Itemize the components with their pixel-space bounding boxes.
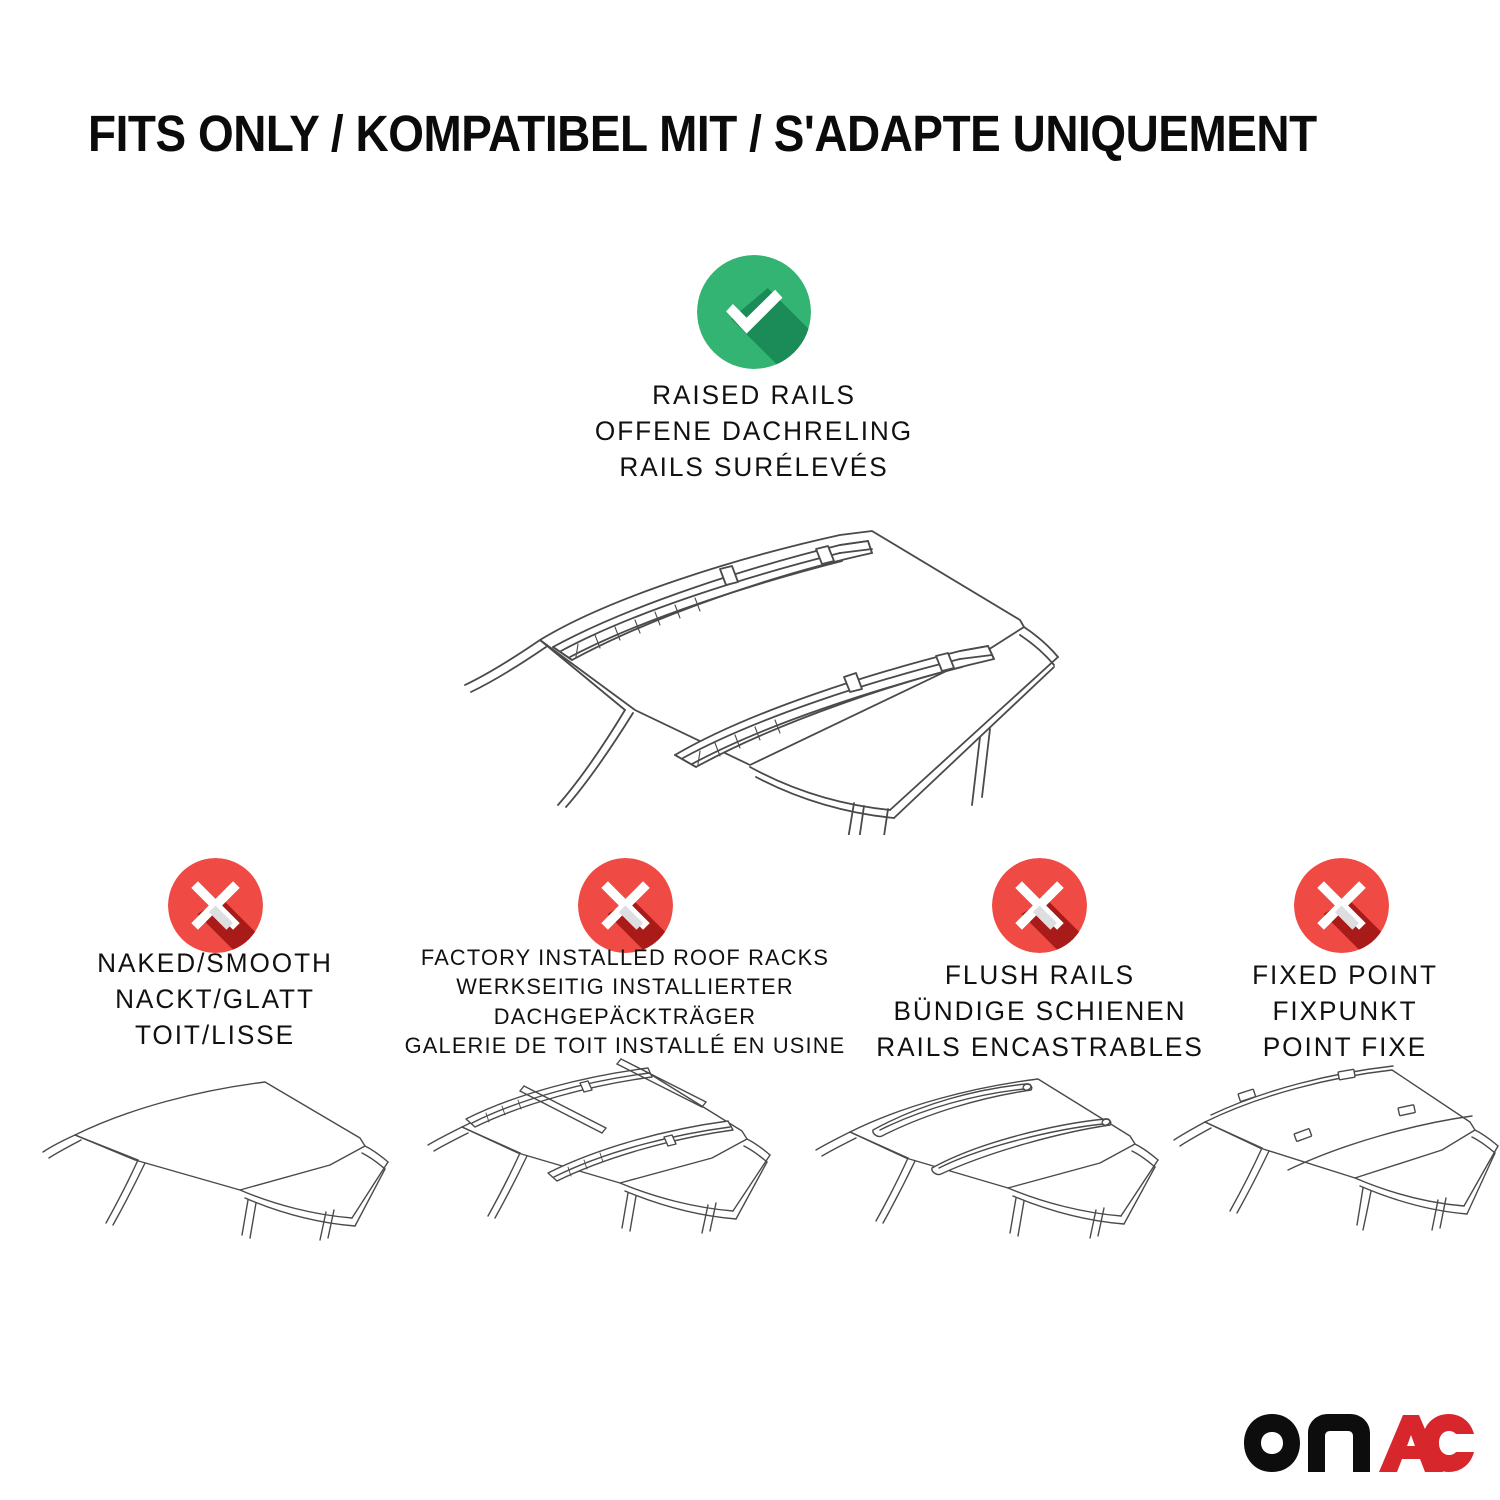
incompatible-label-de: BÜNDIGE SCHIENEN <box>861 994 1220 1030</box>
page-title: FITS ONLY / KOMPATIBEL MIT / S'ADAPTE UN… <box>88 108 1285 159</box>
car-roof-raised-rails-illustration <box>420 505 1080 835</box>
incompatible-caption-fixed-point: FIXED POINT FIXPUNKT POINT FIXE <box>1204 958 1485 1066</box>
incompatible-caption-factory-racks: FACTORY INSTALLED ROOF RACKS WERKSEITIG … <box>402 943 848 1060</box>
incompatible-caption-flush-rails: FLUSH RAILS BÜNDIGE SCHIENEN RAILS ENCAS… <box>861 958 1220 1066</box>
car-roof-fixed-point-illustration <box>1170 1060 1500 1290</box>
incompatible-label-en: NAKED/SMOOTH <box>45 946 385 982</box>
cross-circle-icon <box>578 858 673 953</box>
compatible-label-de: OFFENE DACHRELING <box>459 414 1049 450</box>
compatible-caption: RAISED RAILS OFFENE DACHRELING RAILS SUR… <box>459 378 1049 486</box>
compatible-label-en: RAISED RAILS <box>459 378 1049 414</box>
incompatible-label-de-2: DACHGEPÄCKTRÄGER <box>402 1002 848 1031</box>
check-circle-icon <box>697 255 811 369</box>
logo-letter-c <box>1422 1414 1474 1472</box>
incompatible-label-en: FACTORY INSTALLED ROOF RACKS <box>402 943 848 972</box>
car-roof-naked-smooth-illustration <box>40 1060 400 1290</box>
incompatible-label-de-1: WERKSEITIG INSTALLIERTER <box>402 972 848 1001</box>
incompatible-label-fr: TOIT/LISSE <box>45 1018 385 1054</box>
incompatible-label-en: FLUSH RAILS <box>861 958 1220 994</box>
fitment-guide-page: FITS ONLY / KOMPATIBEL MIT / S'ADAPTE UN… <box>0 0 1500 1500</box>
car-roof-flush-rails-illustration <box>810 1060 1170 1290</box>
car-roof-factory-racks-illustration <box>420 1055 780 1290</box>
cross-circle-icon <box>168 858 263 953</box>
compatible-label-fr: RAILS SURÉLEVÉS <box>459 450 1049 486</box>
logo-letter-o <box>1244 1414 1300 1472</box>
incompatible-label-en: FIXED POINT <box>1204 958 1485 994</box>
cross-circle-icon <box>992 858 1087 953</box>
incompatible-label-de: FIXPUNKT <box>1204 994 1485 1030</box>
incompatible-caption-naked-smooth: NAKED/SMOOTH NACKT/GLATT TOIT/LISSE <box>45 946 385 1054</box>
logo-letter-m-notch <box>1333 1448 1345 1472</box>
omac-logo <box>1238 1408 1474 1480</box>
cross-circle-icon <box>1294 858 1389 953</box>
incompatible-label-de: NACKT/GLATT <box>45 982 385 1018</box>
